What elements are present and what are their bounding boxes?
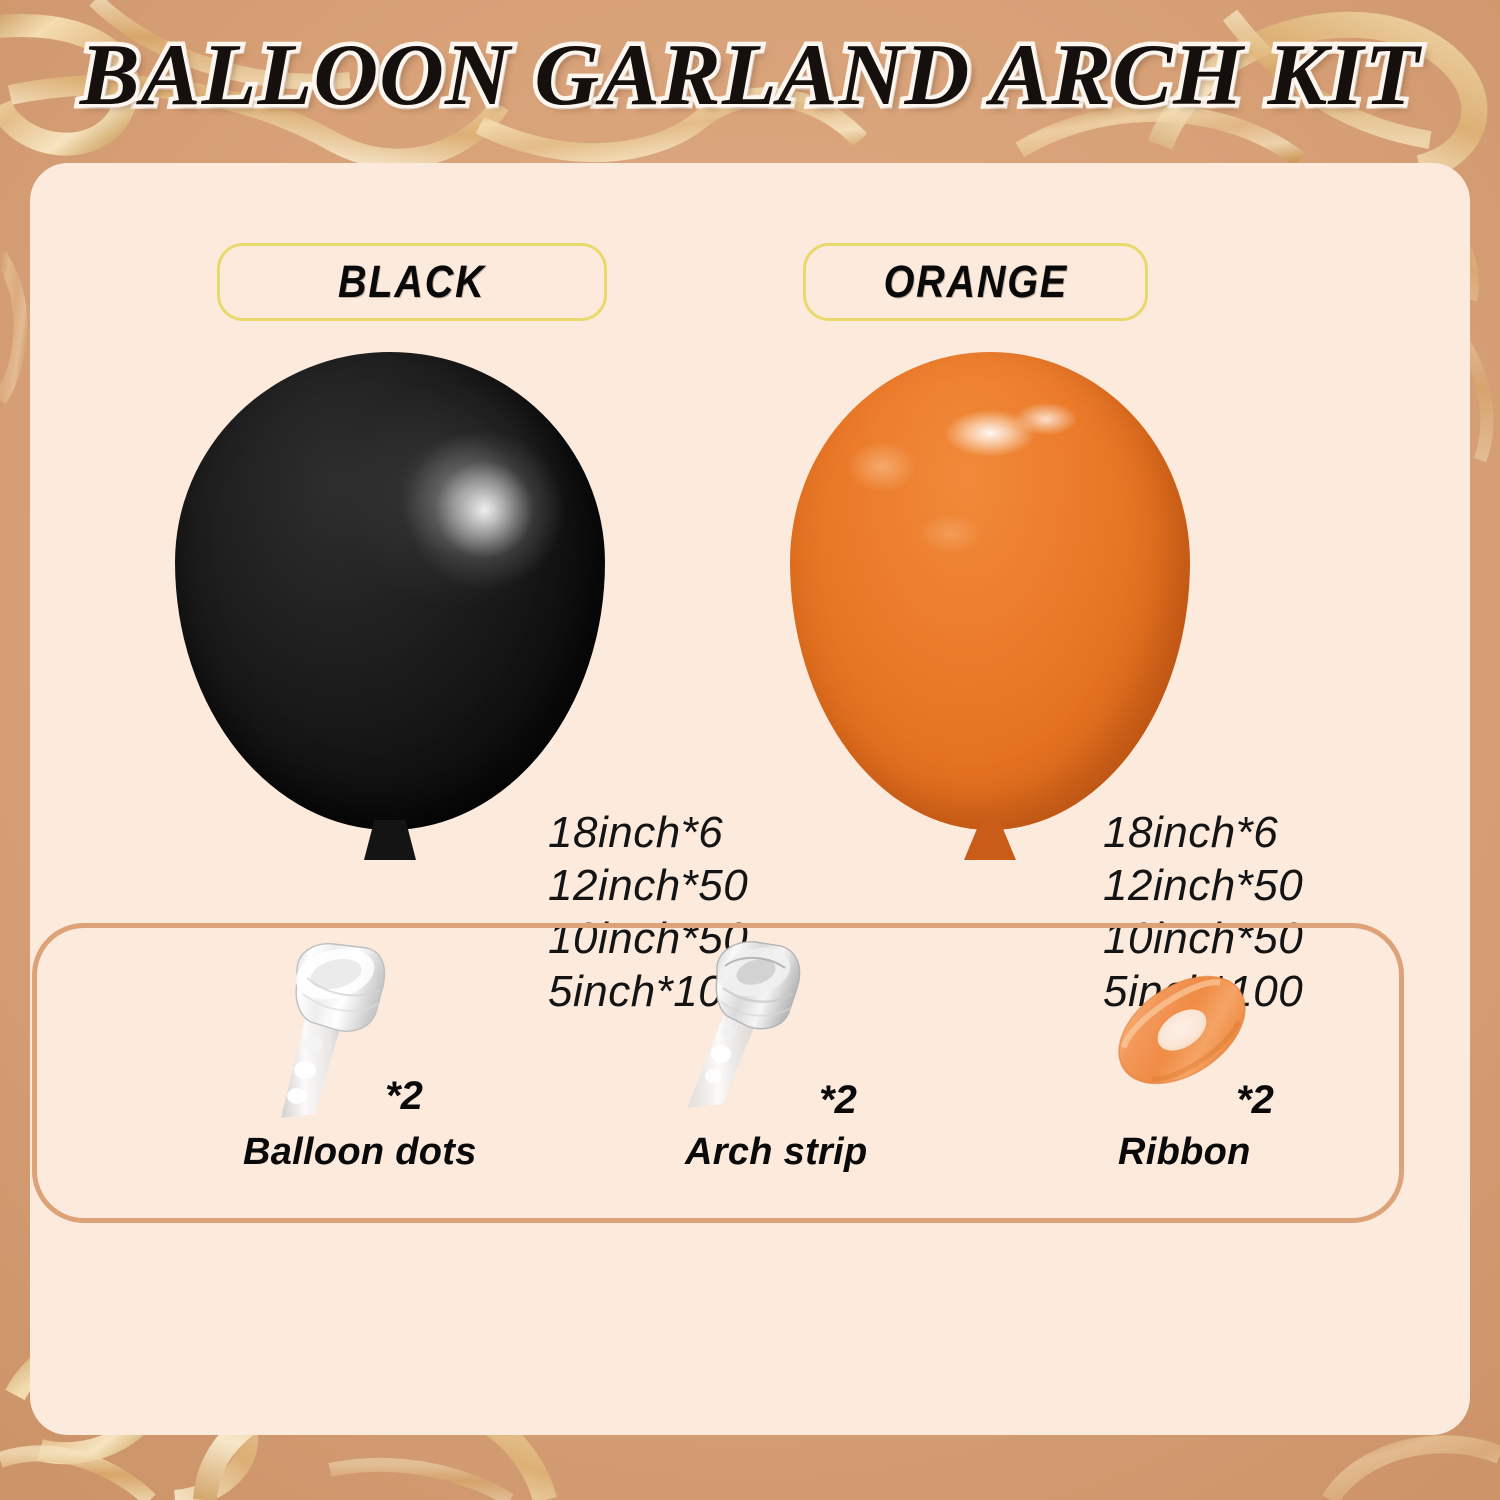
accessory-item-balloon-dots: *2 Balloon dots [185, 928, 605, 1228]
glue-dot-roll-icon [237, 938, 467, 1128]
color-label-black: BLACK [217, 243, 607, 321]
accessory-item-ribbon: *2 Ribbon [1012, 928, 1432, 1228]
balloon-orange-group [790, 352, 1190, 872]
accessory-label: Ribbon [1118, 1131, 1251, 1174]
balloon-black-group [175, 352, 605, 872]
accessory-count: *2 [385, 1074, 423, 1119]
ribbon-spool-icon [1082, 950, 1312, 1140]
color-label-orange-text: ORANGE [883, 256, 1067, 308]
accessories-panel: *2 Balloon dots [32, 923, 1404, 1223]
accessory-label: Balloon dots [243, 1131, 477, 1174]
arch-strip-roll-icon [669, 936, 899, 1126]
size-line: 18inch*6 [1103, 806, 1303, 859]
size-line: 12inch*50 [548, 859, 748, 912]
accessory-count: *2 [1236, 1078, 1274, 1123]
color-label-orange: ORANGE [803, 243, 1148, 321]
page-title: BALLOON GARLAND ARCH KIT [0, 22, 1500, 132]
balloon-icon-black [175, 352, 605, 872]
balloon-body [790, 352, 1190, 830]
accessory-count: *2 [819, 1078, 857, 1123]
balloon-body [175, 352, 605, 830]
accessory-item-arch-strip: *2 Arch strip [605, 928, 1025, 1228]
size-line: 18inch*6 [548, 806, 748, 859]
size-line: 12inch*50 [1103, 859, 1303, 912]
color-label-black-text: BLACK [338, 256, 485, 308]
accessory-label: Arch strip [685, 1131, 867, 1174]
balloon-icon-orange [790, 352, 1190, 872]
page-title-text: BALLOON GARLAND ARCH KIT [80, 22, 1420, 130]
